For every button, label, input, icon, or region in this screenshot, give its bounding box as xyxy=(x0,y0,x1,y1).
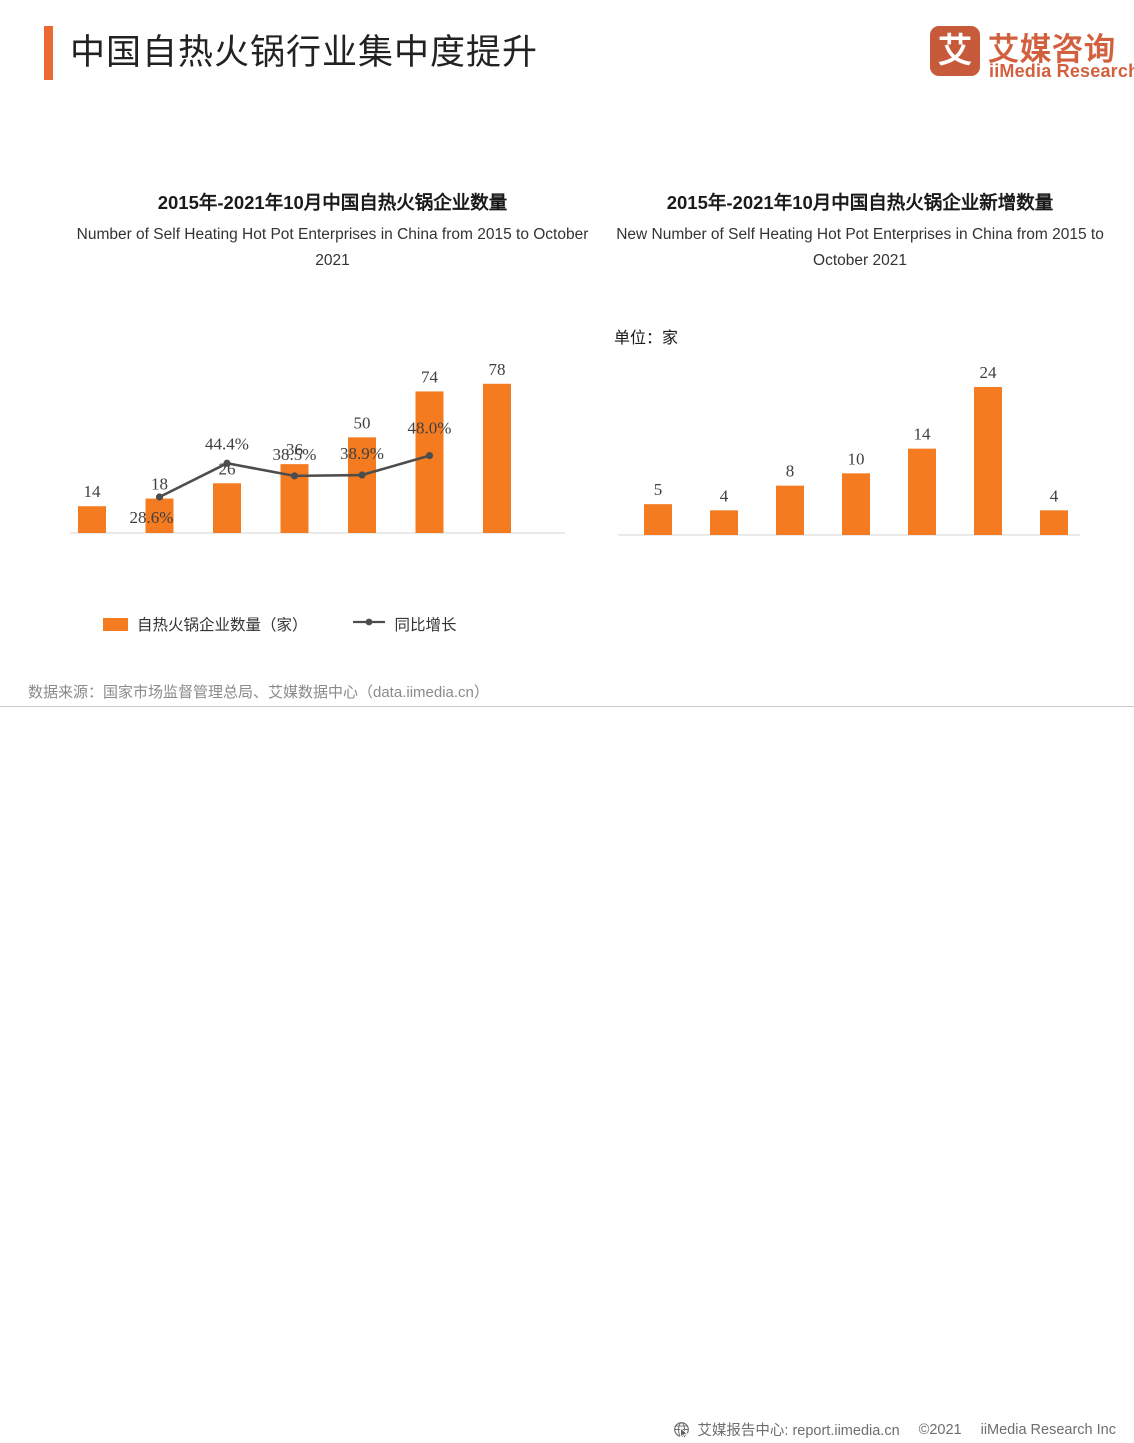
bar xyxy=(644,504,672,535)
chart-panel-enterprise-count: 2015年-2021年10月中国自热火锅企业数量 Number of Self … xyxy=(60,190,605,274)
bar-value-label: 74 xyxy=(421,367,439,386)
bar xyxy=(78,506,106,533)
page-header: 中国自热火锅行业集中度提升 艾 艾媒咨询 iiMedia Research xyxy=(0,0,1134,110)
bar xyxy=(416,391,444,533)
bar xyxy=(974,387,1002,535)
line-point xyxy=(156,493,163,500)
bar-value-label: 24 xyxy=(980,363,998,382)
data-source-note: 数据来源：国家市场监督管理总局、艾媒数据中心（data.iimedia.cn） xyxy=(28,681,489,702)
line-value-label: 44.4% xyxy=(205,434,249,453)
footer-info: 艾媒报告中心: report.iimedia.cn ©2021 iiMedia … xyxy=(673,1419,1116,1440)
copyright-text: ©2021 xyxy=(919,1422,962,1438)
chart-title-cn-left: 2015年-2021年10月中国自热火锅企业数量 xyxy=(60,190,605,216)
line-value-label: 38.5% xyxy=(273,445,317,464)
legend-item-line: 同比增长 xyxy=(352,613,457,635)
bar-value-label: 18 xyxy=(151,475,168,494)
bar-value-label: 26 xyxy=(219,459,236,478)
bar-chart-new-enterprise-count: 单位：家 5481014244 xyxy=(610,310,1110,570)
line-value-label: 38.9% xyxy=(340,444,384,463)
bar-line-chart-enterprise-count: 14182636507478 28.6%44.4%38.5%38.9%48.0% xyxy=(60,330,605,590)
bar xyxy=(1040,510,1068,535)
unit-label-right: 单位：家 xyxy=(614,324,678,348)
chart-title-en-right: New Number of Self Heating Hot Pot Enter… xyxy=(610,222,1110,274)
chart-title-en-left: Number of Self Heating Hot Pot Enterpris… xyxy=(60,222,605,274)
title-accent-bar xyxy=(44,26,53,80)
bar xyxy=(842,473,870,535)
line-point xyxy=(358,471,365,478)
bar-value-label: 14 xyxy=(84,482,102,501)
bar-value-label: 14 xyxy=(914,425,932,444)
line-value-label: 28.6% xyxy=(130,508,174,527)
globe-icon xyxy=(673,1421,691,1439)
legend-line-swatch-icon xyxy=(352,615,386,633)
line-point xyxy=(426,452,433,459)
page-title: 中国自热火锅行业集中度提升 xyxy=(70,27,538,79)
chart-panel-new-enterprise-count: 2015年-2021年10月中国自热火锅企业新增数量 New Number of… xyxy=(610,190,1110,274)
chart-svg-right: 5481014244 xyxy=(610,310,1110,570)
legend-bar-label: 自热火锅企业数量（家） xyxy=(137,613,308,635)
bar xyxy=(776,486,804,535)
bar xyxy=(213,483,241,533)
bar xyxy=(710,510,738,535)
report-center-link[interactable]: 艾媒报告中心: report.iimedia.cn xyxy=(697,1419,899,1440)
bar-value-label: 10 xyxy=(848,449,865,468)
bar-value-label: 5 xyxy=(654,480,663,499)
chart-legend: 自热火锅企业数量（家） 同比增长 xyxy=(103,613,457,635)
line-value-label: 48.0% xyxy=(408,419,452,438)
legend-item-bar: 自热火锅企业数量（家） xyxy=(103,613,308,635)
bar xyxy=(483,384,511,533)
bar-value-label: 4 xyxy=(720,486,729,505)
bar-value-label: 4 xyxy=(1050,486,1059,505)
chart-title-cn-right: 2015年-2021年10月中国自热火锅企业新增数量 xyxy=(610,190,1110,216)
bar-value-label: 8 xyxy=(786,462,795,481)
footer-bar: 艾媒报告中心: report.iimedia.cn ©2021 iiMedia … xyxy=(0,707,1134,737)
company-name: iiMedia Research Inc xyxy=(981,1422,1116,1438)
chart-svg-left: 14182636507478 28.6%44.4%38.5%38.9%48.0% xyxy=(60,330,605,590)
logo-mark-icon: 艾 xyxy=(930,26,980,76)
bar xyxy=(908,449,936,535)
iimedia-logo: 艾 艾媒咨询 iiMedia Research xyxy=(930,24,1112,86)
bar-value-label: 50 xyxy=(354,413,371,432)
legend-bar-swatch-icon xyxy=(103,618,128,631)
bar-value-label: 78 xyxy=(489,360,506,379)
logo-name-en: iiMedia Research xyxy=(989,61,1134,82)
legend-line-label: 同比增长 xyxy=(395,613,457,635)
line-point xyxy=(291,472,298,479)
